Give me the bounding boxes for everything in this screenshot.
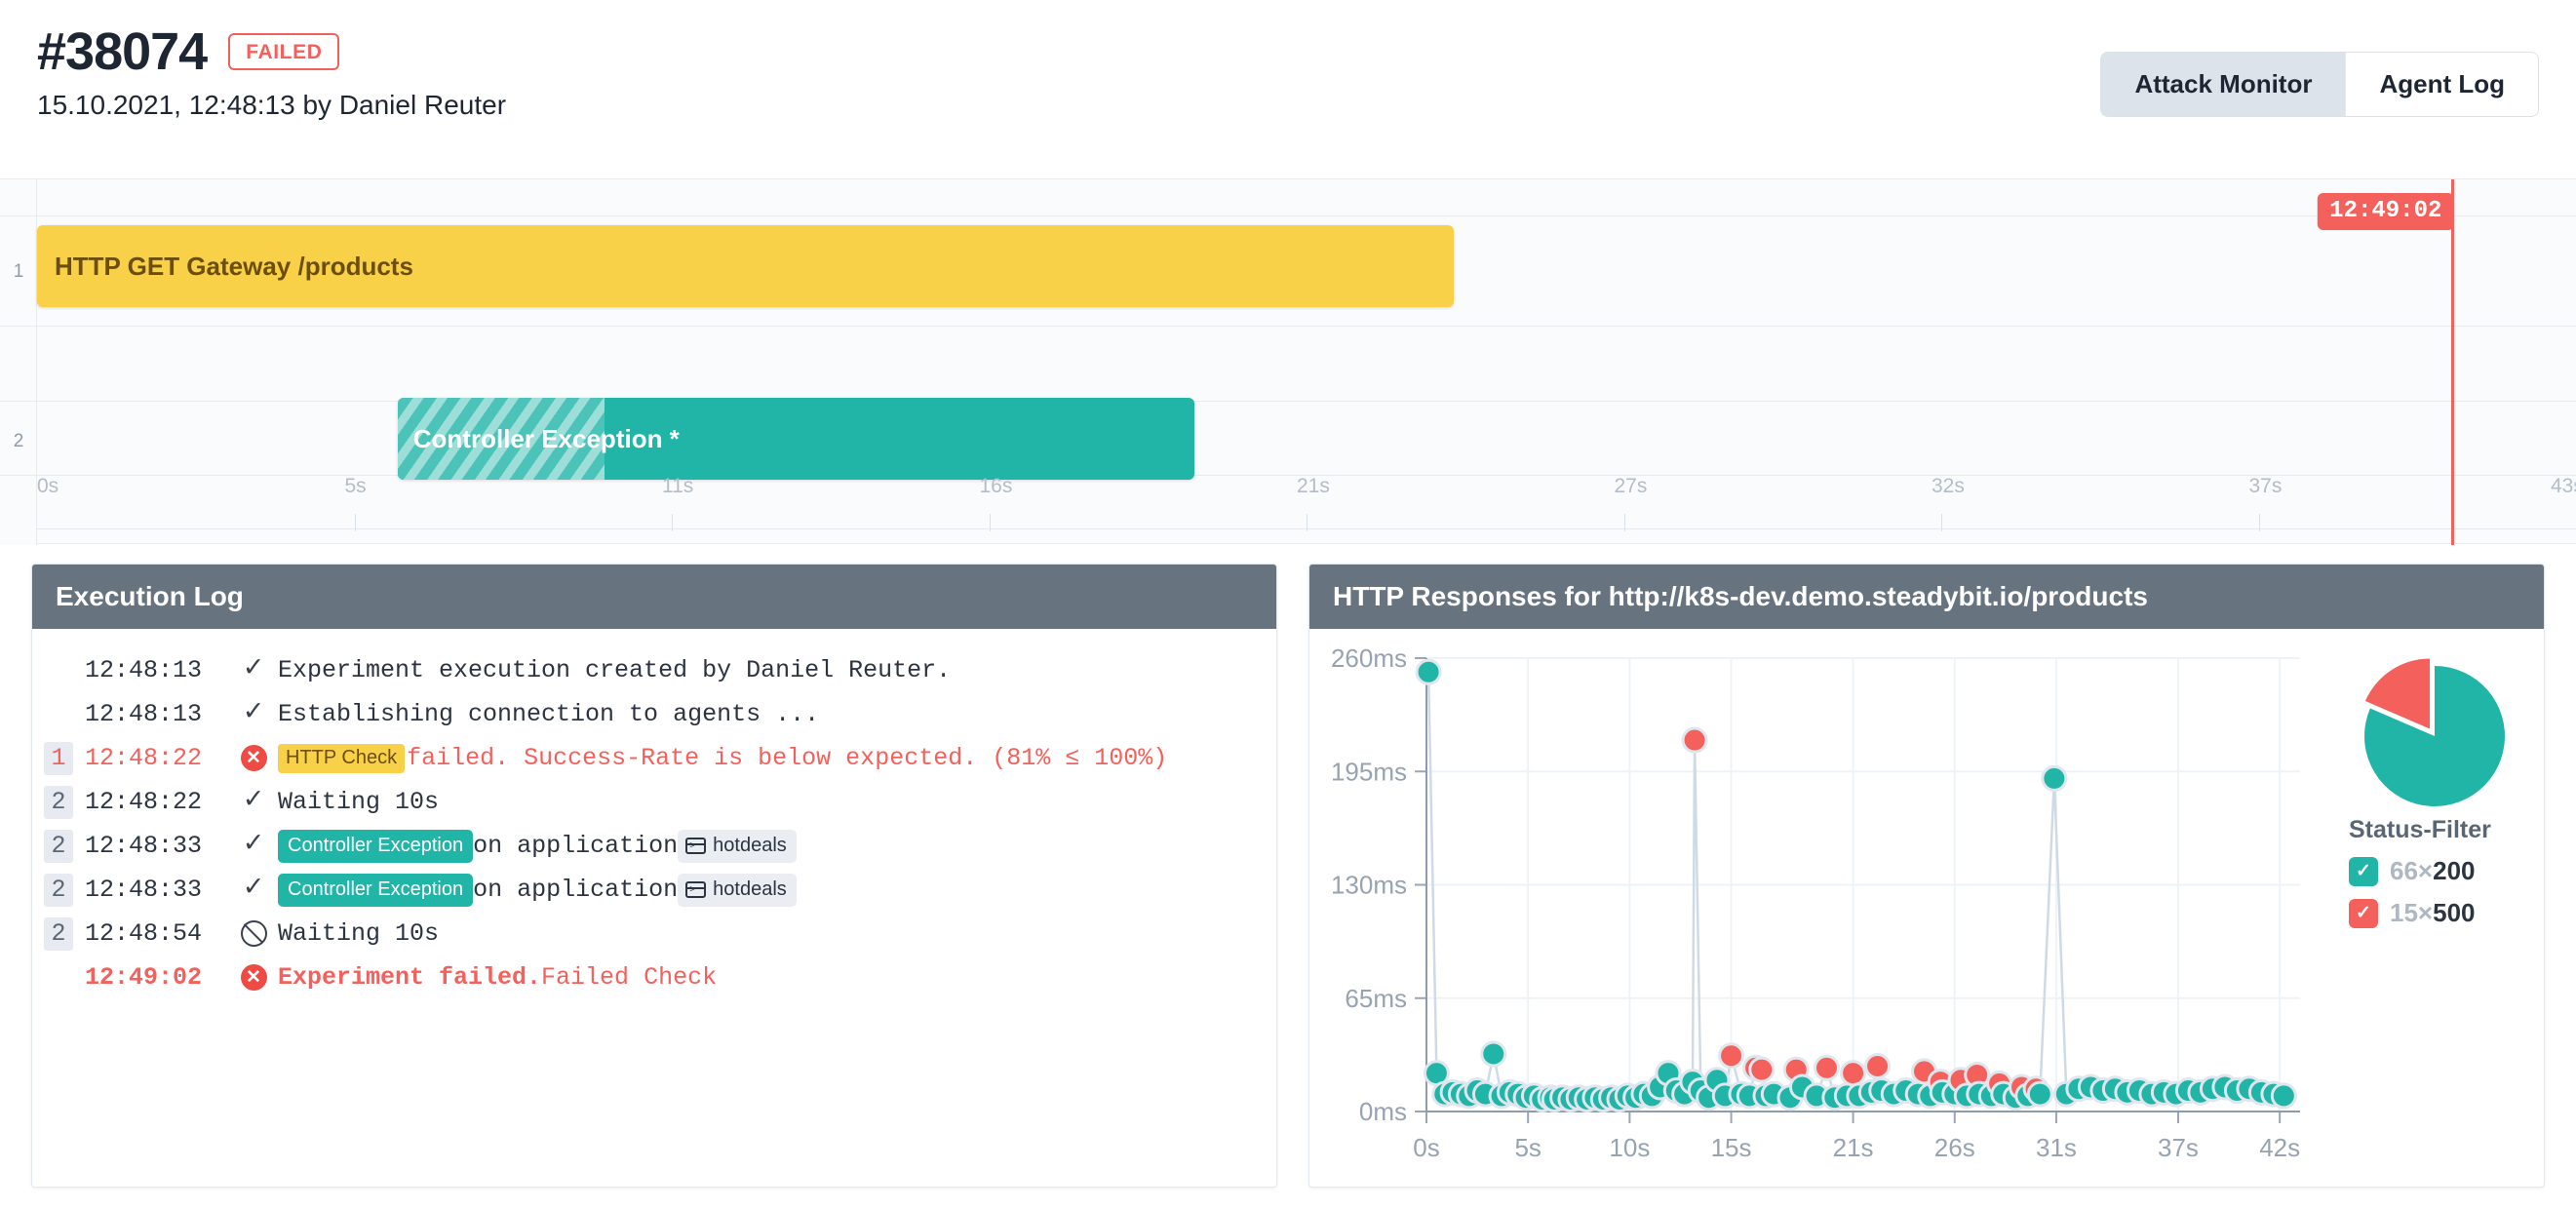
http-responses-chart-body: 0ms65ms130ms195ms260ms0s5s10s15s21s26s31… — [1309, 629, 2544, 1185]
gantt-divider — [0, 326, 2576, 327]
log-text: failed. Success-Rate is below expected. … — [407, 744, 1167, 772]
controller-exception-tag[interactable]: Controller Exception — [278, 874, 473, 907]
tab-attack-monitor[interactable]: Attack Monitor — [2101, 53, 2345, 116]
log-line: 212:48:54Waiting 10s — [32, 912, 1276, 955]
status-filter-item-500[interactable]: ✓ 15×500 — [2349, 898, 2526, 928]
x-tick-label: 37s — [2158, 1133, 2199, 1162]
check-icon: ✓ — [229, 833, 278, 859]
http-check-tag[interactable]: HTTP Check — [278, 744, 405, 773]
gantt-bar-label: Controller Exception * — [398, 424, 680, 454]
gantt-axis-tick: 11s — [662, 475, 693, 498]
x-tick-label: 5s — [1514, 1133, 1541, 1162]
check-icon: ✓ — [229, 657, 278, 683]
gantt-divider — [0, 215, 2576, 216]
log-text: on application — [473, 832, 678, 860]
log-timestamp: 12:48:54 — [85, 919, 229, 948]
log-message: HTTP Checkfailed. Success-Rate is below … — [278, 744, 1167, 773]
log-message: Controller Exception on application hotd… — [278, 830, 797, 863]
application-tag-label: hotdeals — [713, 835, 787, 857]
current-time-marker-label: 12:49:02 — [2318, 193, 2453, 230]
data-point[interactable] — [1866, 1055, 1890, 1078]
gantt-bar-controller-exception[interactable]: Controller Exception * — [398, 398, 1195, 480]
log-message: Waiting 10s — [278, 788, 439, 816]
data-point[interactable] — [1720, 1044, 1743, 1068]
y-tick-label: 130ms — [1331, 871, 1407, 900]
gantt-axis-tick: 21s — [1297, 475, 1330, 498]
status-filter-count-500: 15 — [2390, 898, 2418, 927]
gantt-axis-tick: 43s — [2551, 475, 2576, 498]
execution-log-panel: Execution Log 12:48:13✓Experiment execut… — [31, 564, 1277, 1188]
data-point[interactable] — [2028, 1082, 2051, 1106]
gantt-row-number: 2 — [0, 431, 37, 452]
x-tick-label: 26s — [1934, 1133, 1975, 1162]
gantt-axis-tick: 27s — [1615, 475, 1648, 498]
status-filter-area: Status-Filter ✓ 66×200 ✓ 15×500 — [2349, 656, 2526, 928]
log-timestamp: 12:49:02 — [85, 963, 229, 992]
gantt-timeline: 1 2 HTTP GET Gateway /products Controlle… — [0, 178, 2576, 544]
data-point[interactable] — [1683, 728, 1706, 752]
log-timestamp: 12:48:33 — [85, 832, 229, 860]
log-message: Experiment failed.Failed Check — [278, 963, 717, 992]
data-point[interactable] — [2272, 1084, 2295, 1108]
gantt-row-gutter — [0, 179, 37, 545]
status-badge: FAILED — [228, 33, 339, 70]
execution-log-title: Execution Log — [32, 565, 1276, 629]
gantt-bar-label: HTTP GET Gateway /products — [37, 252, 413, 282]
gantt-time-axis: 0s5s11s16s21s27s32s37s43s — [37, 475, 2576, 545]
log-text: Experiment execution created by Daniel R… — [278, 656, 951, 684]
gantt-axis-baseline — [37, 528, 2576, 529]
x-tick-label: 0s — [1413, 1133, 1439, 1162]
log-step-number: 2 — [44, 917, 73, 951]
current-time-marker-line — [2451, 179, 2454, 545]
execution-subtitle: 15.10.2021, 12:48:13 by Daniel Reuter — [37, 90, 506, 121]
gantt-axis-tick: 0s — [37, 475, 59, 498]
status-filter-code-200: 200 — [2433, 856, 2475, 885]
log-timestamp: 12:48:22 — [85, 788, 229, 816]
status-filter-item-200[interactable]: ✓ 66×200 — [2349, 856, 2526, 886]
log-message: Experiment execution created by Daniel R… — [278, 656, 951, 684]
gantt-axis-tick: 5s — [345, 475, 367, 498]
log-line: 212:48:22✓Waiting 10s — [32, 780, 1276, 824]
data-point[interactable] — [1750, 1058, 1774, 1081]
log-timestamp: 12:48:22 — [85, 744, 229, 772]
application-tag[interactable]: hotdeals — [678, 874, 797, 907]
log-text: Waiting 10s — [278, 788, 439, 816]
y-tick-label: 0ms — [1359, 1097, 1407, 1126]
view-tabs: Attack Monitor Agent Log — [2100, 52, 2539, 117]
status-filter-sep-500: × — [2418, 898, 2433, 927]
check-icon: ✓ — [229, 789, 278, 815]
log-step-number: 2 — [44, 830, 73, 863]
gantt-row-number: 1 — [0, 261, 37, 283]
y-tick-label: 65ms — [1345, 984, 1407, 1013]
log-line: 12:49:02✕Experiment failed.Failed Check — [32, 955, 1276, 999]
log-text: Experiment failed. — [278, 963, 541, 992]
x-tick-label: 15s — [1711, 1133, 1752, 1162]
log-step-number: 1 — [44, 742, 73, 775]
data-point[interactable] — [1417, 660, 1440, 683]
controller-exception-tag[interactable]: Controller Exception — [278, 830, 473, 863]
log-message: Waiting 10s — [278, 919, 439, 948]
log-timestamp: 12:48:33 — [85, 876, 229, 904]
check-icon: ✓ — [229, 701, 278, 727]
gantt-axis-tick: 16s — [980, 475, 1013, 498]
status-filter-code-500: 500 — [2433, 898, 2475, 927]
check-icon: ✓ — [229, 877, 278, 903]
status-filter-text-500: 15×500 — [2390, 898, 2476, 928]
log-timestamp: 12:48:13 — [85, 700, 229, 728]
log-line: 112:48:22✕HTTP Checkfailed. Success-Rate… — [32, 736, 1276, 780]
gantt-axis-tick: 32s — [1932, 475, 1965, 498]
log-step-number: 2 — [44, 786, 73, 819]
http-responses-panel: HTTP Responses for http://k8s-dev.demo.s… — [1308, 564, 2545, 1188]
error-circle-icon: ✕ — [229, 964, 278, 991]
status-filter-checkbox-200[interactable]: ✓ — [2349, 857, 2378, 886]
execution-log-list: 12:48:13✓Experiment execution created by… — [32, 629, 1276, 999]
data-point[interactable] — [1842, 1062, 1865, 1085]
application-tag[interactable]: hotdeals — [678, 830, 797, 863]
y-tick-label: 260ms — [1331, 643, 1407, 673]
data-point[interactable] — [1815, 1056, 1838, 1079]
log-line: 212:48:33✓Controller Exception on applic… — [32, 824, 1276, 868]
y-tick-label: 195ms — [1331, 757, 1407, 786]
attack-monitor-page: #38074 FAILED 15.10.2021, 12:48:13 by Da… — [0, 0, 2576, 1209]
log-text: Waiting 10s — [278, 919, 439, 948]
log-line: 12:48:13✓Establishing connection to agen… — [32, 692, 1276, 736]
log-step-number: 2 — [44, 874, 73, 907]
gantt-divider — [0, 401, 2576, 402]
execution-summary: #38074 FAILED 15.10.2021, 12:48:13 by Da… — [37, 25, 506, 121]
log-text: Establishing connection to agents ... — [278, 700, 819, 728]
terminal-icon — [685, 838, 706, 854]
http-responses-title: HTTP Responses for http://k8s-dev.demo.s… — [1309, 565, 2544, 629]
gantt-axis-tick: 37s — [2249, 475, 2283, 498]
data-point[interactable] — [2043, 766, 2066, 790]
page-title: #38074 — [37, 25, 207, 78]
log-line: 212:48:33✓Controller Exception on applic… — [32, 868, 1276, 912]
x-tick-label: 42s — [2259, 1133, 2300, 1162]
gantt-bar-http-get-gateway[interactable]: HTTP GET Gateway /products — [37, 225, 1454, 307]
log-message: Establishing connection to agents ... — [278, 700, 819, 728]
status-filter-sep-200: × — [2418, 856, 2433, 885]
log-step-number — [44, 654, 73, 687]
page-header: #38074 FAILED 15.10.2021, 12:48:13 by Da… — [0, 0, 2576, 178]
status-filter-count-200: 66 — [2390, 856, 2418, 885]
status-filter-checkbox-500[interactable]: ✓ — [2349, 899, 2378, 928]
log-line: 12:48:13✓Experiment execution created by… — [32, 648, 1276, 692]
error-circle-icon: ✕ — [229, 745, 278, 771]
tab-agent-log[interactable]: Agent Log — [2345, 53, 2538, 116]
ban-icon — [229, 920, 278, 947]
status-filter-text-200: 66×200 — [2390, 856, 2476, 886]
data-point[interactable] — [1482, 1042, 1505, 1066]
terminal-icon — [685, 881, 706, 898]
x-tick-label: 31s — [2036, 1133, 2077, 1162]
log-step-number — [44, 961, 73, 994]
log-step-number — [44, 698, 73, 731]
x-tick-label: 21s — [1833, 1133, 1874, 1162]
log-message: Controller Exception on application hotd… — [278, 874, 797, 907]
log-text: on application — [473, 876, 678, 904]
status-pie-chart — [2349, 656, 2526, 822]
log-timestamp: 12:48:13 — [85, 656, 229, 684]
application-tag-label: hotdeals — [713, 878, 787, 901]
log-text: Failed Check — [541, 963, 717, 992]
x-tick-label: 10s — [1609, 1133, 1650, 1162]
